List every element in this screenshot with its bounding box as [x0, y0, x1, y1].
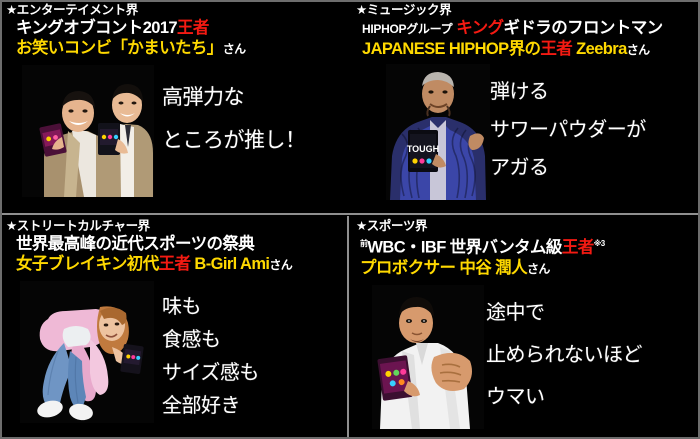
name-line: 女子ブレイキン初代王者 B-Girl Amiさん	[6, 254, 346, 275]
panel-header-entertainment: ★エンターテイメント界 キングオブコント2017王者 お笑いコンビ「かまいたち」…	[0, 0, 346, 59]
title-text: ギドラのフロントマン	[504, 19, 663, 37]
title-text: 世界最高峰の近代スポーツの祭典	[16, 235, 254, 253]
svg-text:TOUGH: TOUGH	[407, 144, 439, 154]
quote-music: 弾ける サワーパウダーが アガる	[490, 82, 646, 178]
quote-line: 高弾力な	[162, 87, 306, 108]
name-suffix: さん	[269, 258, 292, 272]
title-line: HIPHOPグループ キングギドラのフロントマン	[356, 18, 700, 39]
frame-left	[0, 0, 2, 439]
quote-line: 弾ける	[490, 82, 646, 102]
title-prefix: HIPHOPグループ	[362, 22, 452, 36]
title-highlight: 王者	[562, 239, 594, 257]
title-highlight: キング	[456, 19, 503, 37]
name-line: プロボクサー 中谷 潤人さん	[356, 258, 700, 279]
quote-street-culture: 味も 食感も サイズ感も 全部好き	[162, 297, 259, 416]
panel-header-street-culture: ★ストリートカルチャー界 世界最高峰の近代スポーツの祭典 女子ブレイキン初代王者…	[0, 216, 346, 275]
category-label: ★スポーツ界	[356, 219, 700, 234]
name-text: プロボクサー 中谷 潤人	[360, 259, 527, 277]
name-suffix: さん	[627, 43, 650, 57]
title-highlight: 王者	[177, 19, 209, 37]
quote-line: ウマい	[486, 387, 642, 407]
quote-line: ところが推し！	[162, 130, 306, 151]
panel-street-culture: ★ストリートカルチャー界 世界最高峰の近代スポーツの祭典 女子ブレイキン初代王者…	[0, 216, 346, 439]
comedy-duo-photo	[22, 65, 154, 197]
category-label: ★ストリートカルチャー界	[6, 219, 346, 234]
name-suffix: さん	[223, 42, 246, 56]
category-label: ★ミュージック界	[356, 3, 700, 18]
title-text: キングオブコント2017	[16, 19, 177, 37]
title-line: 前WBC・IBF 世界バンタム級王者※3	[356, 234, 700, 258]
quote-sports: 途中で 止められないほど ウマい	[486, 303, 642, 407]
title-line: 世界最高峰の近代スポーツの祭典	[6, 234, 346, 254]
promo-grid: ★エンターテイメント界 キングオブコント2017王者 お笑いコンビ「かまいたち」…	[0, 0, 700, 439]
quote-line: サイズ感も	[162, 363, 259, 383]
name-line: JAPANESE HIPHOP界の王者 Zeebraさん	[356, 39, 700, 60]
title-line: キングオブコント2017王者	[6, 18, 346, 38]
panel-header-sports: ★スポーツ界 前WBC・IBF 世界バンタム級王者※3 プロボクサー 中谷 潤人…	[350, 216, 700, 279]
name-highlight: 王者	[159, 255, 191, 273]
nakatani-junto-photo	[372, 285, 484, 429]
quote-line: アガる	[490, 158, 646, 178]
panel-music: ★ミュージック界 HIPHOPグループ キングギドラのフロントマン JAPANE…	[350, 0, 700, 212]
zeebra-photo: TOUGH	[386, 64, 490, 200]
panel-entertainment: ★エンターテイメント界 キングオブコント2017王者 お笑いコンビ「かまいたち」…	[0, 0, 346, 212]
quote-line: 途中で	[486, 303, 642, 323]
name-text: お笑いコンビ「かまいたち」	[16, 39, 223, 57]
category-label: ★エンターテイメント界	[6, 3, 346, 18]
name-text: JAPANESE HIPHOP界の	[362, 40, 540, 58]
quote-line: サワーパウダーが	[490, 120, 646, 140]
panel-sports: ★スポーツ界 前WBC・IBF 世界バンタム級王者※3 プロボクサー 中谷 潤人…	[350, 216, 700, 439]
quote-line: 全部好き	[162, 396, 259, 416]
name-text-2: Zeebra	[572, 40, 627, 58]
divider-horizontal	[0, 213, 700, 215]
title-text: WBC・IBF 世界バンタム級	[367, 239, 561, 257]
quote-line: 味も	[162, 297, 259, 317]
name-line: お笑いコンビ「かまいたち」さん	[6, 38, 346, 59]
name-text-2: B-Girl Ami	[190, 255, 269, 273]
title-note: ※3	[594, 239, 605, 248]
quote-entertainment: 高弾力な ところが推し！	[162, 87, 306, 151]
panel-header-music: ★ミュージック界 HIPHOPグループ キングギドラのフロントマン JAPANE…	[350, 0, 700, 60]
bgirl-ami-photo	[20, 281, 154, 423]
divider-vertical	[347, 216, 349, 439]
quote-line: 止められないほど	[486, 345, 642, 365]
name-suffix: さん	[527, 262, 550, 276]
quote-line: 食感も	[162, 330, 259, 350]
frame-top	[0, 0, 700, 2]
name-text: 女子ブレイキン初代	[16, 255, 159, 273]
name-highlight: 王者	[540, 40, 572, 58]
